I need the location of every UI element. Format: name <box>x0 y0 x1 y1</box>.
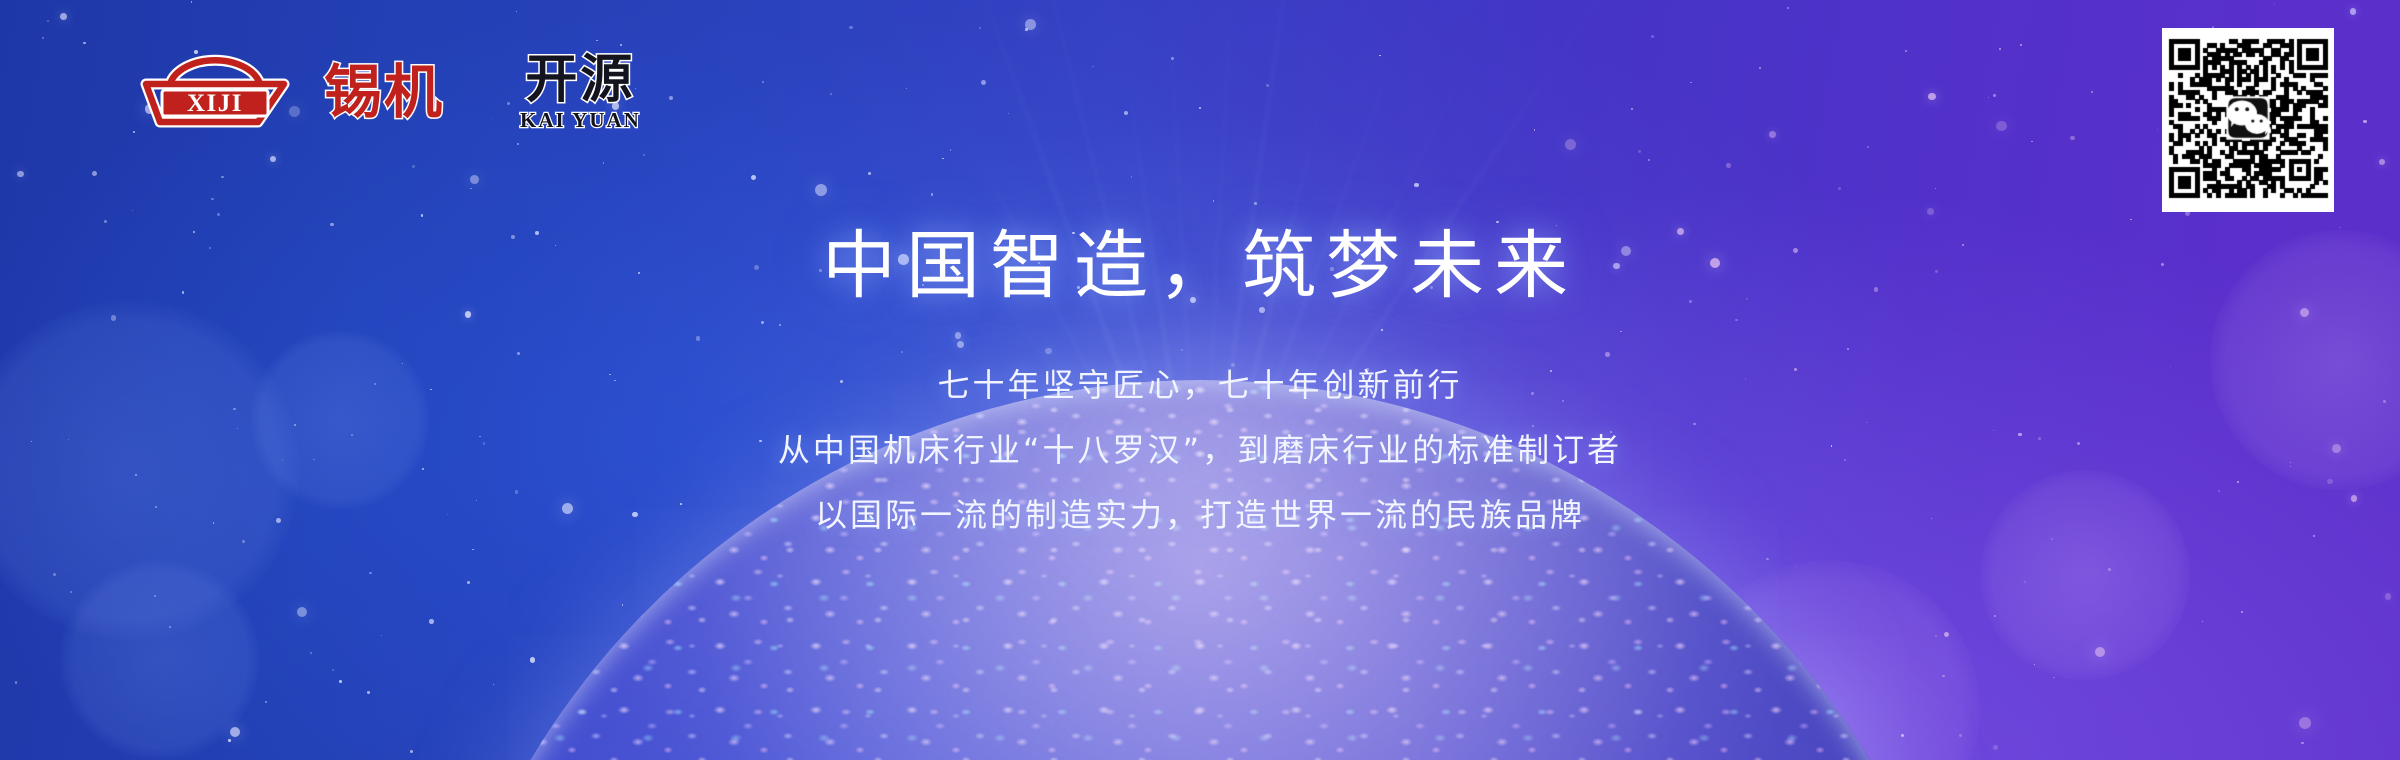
particle-dot <box>470 175 479 184</box>
particle-dot <box>230 727 240 737</box>
particle-dot <box>228 739 231 742</box>
particle-dot <box>369 572 372 575</box>
subtitle-line-1: 七十年坚守匠心，七十年创新前行 <box>0 360 2400 406</box>
particle-dot <box>339 680 342 683</box>
particle-dot <box>233 408 235 410</box>
particle-dot <box>381 635 382 636</box>
particle-dot <box>1735 319 1737 321</box>
particle-dot <box>942 158 944 160</box>
particle-dot <box>1942 675 1945 678</box>
particle-dot <box>931 193 933 195</box>
particle-dot <box>1994 615 1996 617</box>
particle-dot <box>242 540 245 543</box>
particle-dot <box>1379 55 1381 57</box>
particle-dot <box>1631 108 1633 110</box>
particle-dot <box>2157 129 2158 130</box>
xiji-mark-text: XIJI <box>187 90 243 117</box>
particle-dot <box>2091 91 2093 93</box>
particle-dot <box>1867 146 1869 148</box>
particle-dot <box>70 591 72 593</box>
particle-dot <box>1759 67 1761 69</box>
particle-dot <box>517 143 519 145</box>
subtitle-line-2: 从中国机床行业“十八罗汉”，到磨床行业的标准制订者 <box>0 425 2400 471</box>
particle-dot <box>2020 44 2022 46</box>
particle-dot <box>1092 66 1094 68</box>
bokeh-circle <box>1680 560 1980 760</box>
particle-dot <box>1901 734 1904 737</box>
particle-dot <box>47 20 49 22</box>
particle-dot <box>596 40 598 42</box>
particle-dot <box>955 332 962 339</box>
particle-dot <box>1993 745 1998 750</box>
bokeh-circle <box>60 560 260 760</box>
particle-dot <box>310 652 312 654</box>
particle-dot <box>957 341 964 348</box>
particle-dot <box>1787 7 1789 9</box>
particle-dot <box>906 88 907 89</box>
particle-dot <box>60 13 67 20</box>
particle-dot <box>2051 538 2053 540</box>
page-title: 中国智造，筑梦未来 <box>0 206 2400 313</box>
particle-dot <box>270 156 276 162</box>
particle-dot <box>1766 558 1769 561</box>
particle-dot <box>981 80 986 85</box>
particle-dot <box>1935 188 1936 189</box>
particle-dot <box>696 336 701 341</box>
particle-dot <box>265 701 267 703</box>
wechat-qr-code[interactable] <box>2162 28 2334 212</box>
particle-dot <box>53 573 56 576</box>
sub-brand-en: KAI YUAN <box>520 110 641 131</box>
particle-dot <box>1648 159 1650 161</box>
particle-dot <box>133 131 135 133</box>
hero-banner: XIJI 锡机 开源 KAI YUAN 中国智造，筑梦未来 七十年坚守匠心，七十… <box>0 0 2400 760</box>
particle-dot <box>1993 94 1996 97</box>
particle-dot <box>470 188 472 190</box>
particle-dot <box>1905 50 1907 52</box>
particle-dot <box>622 604 624 606</box>
particle-dot <box>154 595 156 597</box>
particle-dot <box>1935 635 1937 637</box>
particle-dot <box>221 176 224 179</box>
particle-dot <box>2034 664 2035 665</box>
particle-dot <box>1124 111 1128 115</box>
particle-dot <box>493 684 494 685</box>
particle-dot <box>2241 611 2243 613</box>
particle-dot <box>979 27 982 30</box>
particle-dot <box>517 352 520 355</box>
particle-dot <box>1651 35 1654 38</box>
particle-dot <box>1181 349 1183 351</box>
particle-dot <box>1199 107 1201 109</box>
subtitle-line-3: 以国际一流的制造实力，打造世界一流的民族品牌 <box>0 490 2400 536</box>
particle-dot <box>1620 331 1621 332</box>
particle-dot <box>2327 479 2333 485</box>
particle-dot <box>1944 632 1949 637</box>
particle-dot <box>2237 481 2239 483</box>
particle-dot <box>1866 422 1867 423</box>
particle-dot <box>1838 187 1841 190</box>
particle-dot <box>297 607 307 617</box>
particle-dot <box>1381 329 1382 330</box>
particle-dot <box>111 315 117 321</box>
qr-canvas <box>2162 28 2334 212</box>
particle-dot <box>530 657 536 663</box>
particle-dot <box>2301 742 2303 744</box>
particle-dot <box>17 171 24 178</box>
particle-dot <box>1847 348 1850 351</box>
particle-dot <box>1112 418 1115 421</box>
particle-dot <box>751 175 757 181</box>
particle-dot <box>1795 566 1796 567</box>
particle-dot <box>1534 129 1536 131</box>
particle-dot <box>1025 19 1036 30</box>
particle-dot <box>429 619 434 624</box>
particle-dot <box>1171 57 1174 60</box>
particle-dot <box>1565 139 1576 150</box>
particle-dot <box>367 691 370 694</box>
particle-dot <box>1769 131 1776 138</box>
particle-dot <box>1060 422 1062 424</box>
xiji-shield-emblem: XIJI <box>140 50 290 134</box>
particle-dot <box>2379 159 2385 165</box>
particle-dot <box>135 474 137 476</box>
particle-dot <box>472 549 473 550</box>
particle-dot <box>2070 136 2075 141</box>
particle-dot <box>2031 141 2033 143</box>
particle-dot <box>1605 352 1610 357</box>
particle-dot <box>1959 734 1962 737</box>
particle-dot <box>761 321 764 324</box>
particle-dot <box>42 37 44 39</box>
particle-dot <box>410 750 413 753</box>
particle-dot <box>2053 677 2055 679</box>
brand-name-cn: 锡机 <box>324 63 444 121</box>
particle-dot <box>412 165 416 169</box>
particle-dot <box>950 149 952 151</box>
particle-dot <box>2363 120 2366 123</box>
particle-dot <box>2024 581 2026 583</box>
particle-dot <box>603 162 605 164</box>
particle-dot <box>830 93 833 96</box>
particle-dot <box>762 81 765 84</box>
particle-dot <box>169 626 171 628</box>
particle-dot <box>2108 568 2111 571</box>
particle-dot <box>669 96 673 100</box>
particle-dot <box>2202 621 2204 623</box>
particle-dot <box>2350 8 2357 15</box>
particle-dot <box>1254 202 1256 204</box>
particle-dot <box>83 42 86 45</box>
particle-dot <box>1131 176 1133 178</box>
particle-dot <box>1996 121 2007 132</box>
particle-dot <box>1690 82 1692 84</box>
particle-dot <box>620 44 622 46</box>
particle-dot <box>849 26 853 30</box>
particle-dot <box>1025 28 1028 31</box>
particle-dot <box>643 154 646 157</box>
bokeh-circle <box>820 600 980 760</box>
particle-dot <box>815 184 827 196</box>
particle-dot <box>2274 3 2275 4</box>
particle-dot <box>901 351 903 353</box>
particle-dot <box>1008 113 1009 114</box>
particle-dot <box>2095 647 2105 657</box>
particle-dot <box>1213 200 1215 202</box>
particle-dot <box>1928 93 1936 101</box>
particle-dot <box>211 198 214 201</box>
particle-dot <box>1999 48 2001 50</box>
bokeh-circle <box>250 330 430 510</box>
particle-dot <box>191 1 192 2</box>
particle-dot <box>516 11 517 12</box>
particle-dot <box>467 581 470 584</box>
particle-dot <box>1726 163 1731 168</box>
particle-dot <box>1414 183 1419 188</box>
particle-dot <box>1045 348 1051 354</box>
particle-dot <box>15 681 18 684</box>
particle-dot <box>779 324 781 326</box>
particle-dot <box>1638 150 1642 154</box>
sub-brand-cn: 开源 <box>525 54 635 106</box>
particle-dot <box>332 669 334 671</box>
particle-dot <box>1988 97 1989 98</box>
particle-dot <box>92 171 97 176</box>
brand-logo[interactable]: XIJI 锡机 开源 KAI YUAN <box>140 50 641 134</box>
particle-dot <box>1266 84 1269 87</box>
sub-brand-lockup: 开源 KAI YUAN <box>520 54 641 131</box>
particle-dot <box>2385 593 2391 599</box>
particle-dot <box>2299 717 2311 729</box>
particle-dot <box>868 172 871 175</box>
